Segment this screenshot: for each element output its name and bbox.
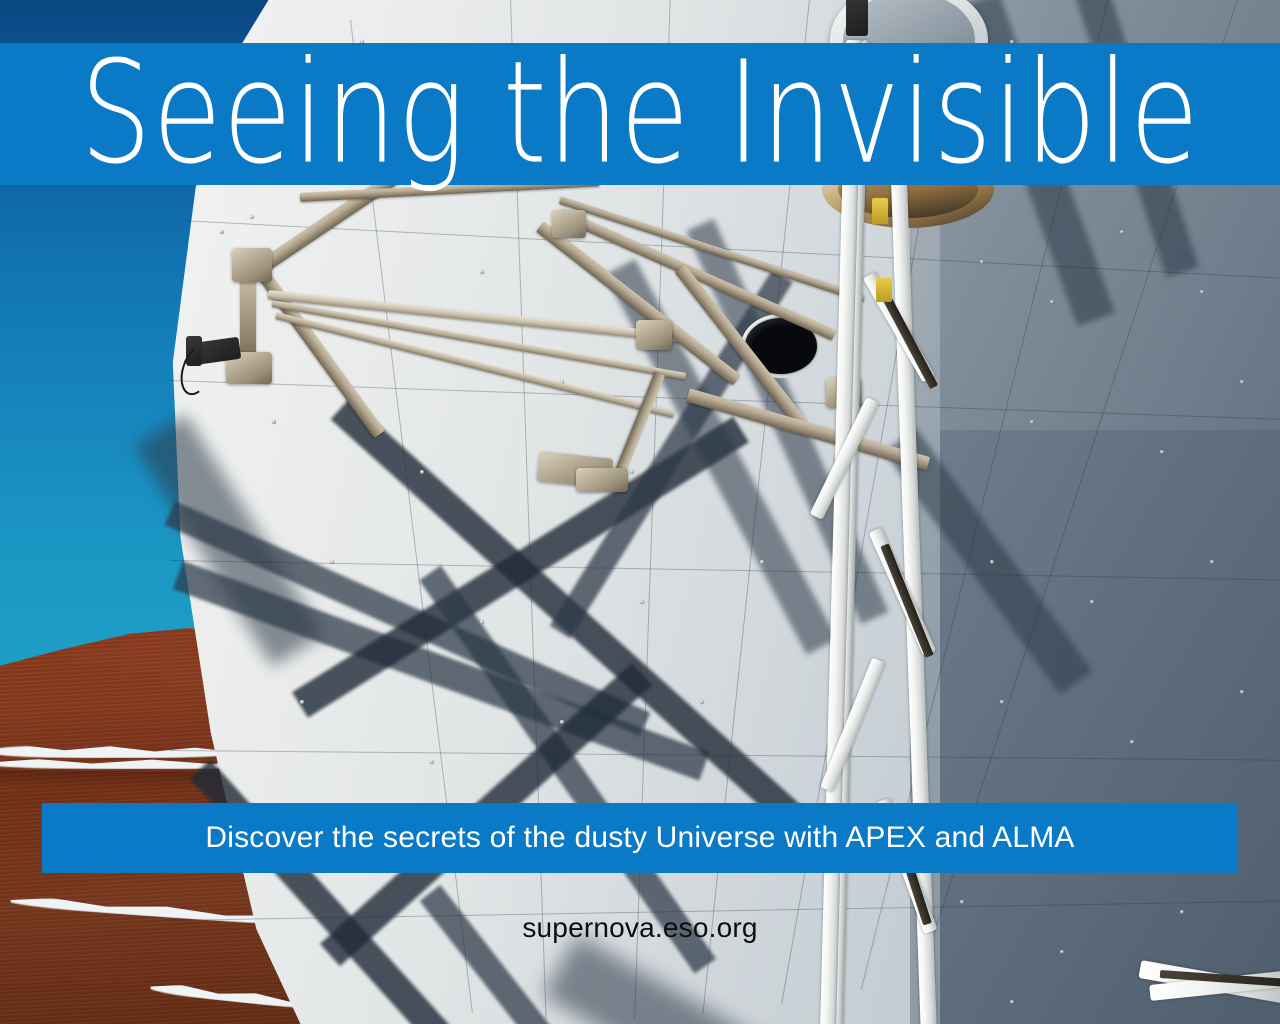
truss-node — [232, 248, 272, 282]
site-url[interactable]: supernova.eso.org — [0, 912, 1280, 944]
cable-clip — [872, 198, 888, 224]
truss-node — [636, 320, 672, 350]
cable-clip — [876, 278, 892, 302]
poster: Seeing the Invisible Discover the secret… — [0, 0, 1280, 1024]
truss-node — [576, 468, 628, 492]
page-title: Seeing the Invisible — [19, 27, 1261, 200]
truss-node — [552, 210, 586, 238]
page-subtitle: Discover the secrets of the dusty Univer… — [42, 803, 1238, 873]
